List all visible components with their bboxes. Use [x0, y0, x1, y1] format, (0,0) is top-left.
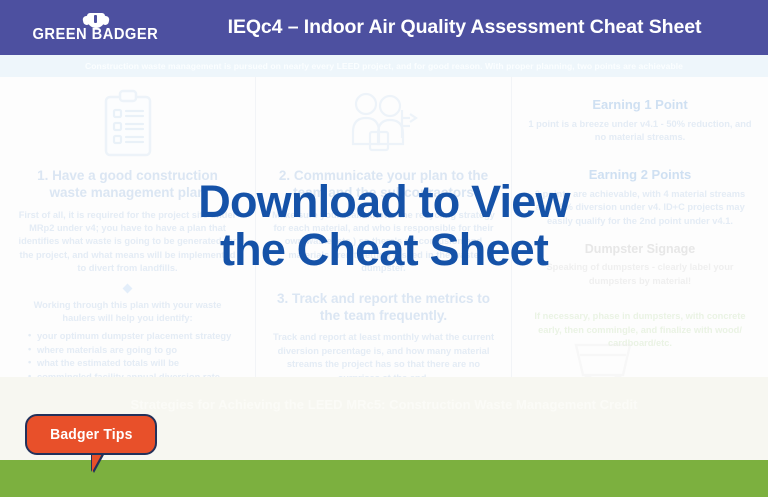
- dumpster-signage-icon: [568, 327, 638, 383]
- content-columns: 1. Have a good construction waste manage…: [0, 77, 768, 377]
- list-item: what the estimated totals will be: [28, 357, 241, 371]
- earning-1-point-heading: Earning 1 Point: [526, 97, 754, 112]
- column-1-body: First of all, it is required for the pro…: [14, 209, 241, 276]
- column-1-title: 1. Have a good construction waste manage…: [14, 167, 241, 202]
- dumpster-signage-note: If necessary, phase in dumpsters, with c…: [526, 310, 754, 350]
- clipboard-checklist-icon: [14, 85, 241, 163]
- dumpster-signage-body: Speaking of dumpsters - clearly label yo…: [526, 261, 754, 288]
- team-communication-icon: [270, 85, 497, 163]
- earning-1-point-body: 1 point is a breeze under v4.1 - 50% red…: [526, 118, 754, 145]
- column-2-body: Make sure your team knows the recycling …: [270, 209, 497, 276]
- footer-caption: Strategies for Achieving the LEED MRc5: …: [0, 397, 768, 412]
- subtitle-band: Construction waste management is pursued…: [0, 55, 768, 77]
- badger-tips-button[interactable]: Badger Tips: [25, 414, 157, 455]
- earning-2-points-heading: Earning 2 Points: [526, 167, 754, 182]
- page-title: IEQc4 – Indoor Air Quality Assessment Ch…: [185, 16, 768, 39]
- column-2-title: 2. Communicate your plan to the team and…: [270, 167, 497, 202]
- column-waste-management-plan: 1. Have a good construction waste manage…: [0, 77, 256, 377]
- cheat-sheet-page: GREEN BADGER IEQc4 – Indoor Air Quality …: [0, 0, 768, 497]
- subtitle-text: Construction waste management is pursued…: [85, 61, 683, 71]
- dumpster-signage-heading: Dumpster Signage: [526, 242, 754, 256]
- column-2-subhead: 3. Track and report the metrics to the t…: [270, 290, 497, 325]
- list-item: where materials are going to go: [28, 344, 241, 358]
- brand-logo[interactable]: GREEN BADGER: [0, 0, 185, 55]
- badger-tips-label: Badger Tips: [50, 426, 132, 443]
- brand-logo-text: GREEN BADGER: [33, 27, 159, 43]
- column-1-subhead: Working through this plan with your wast…: [14, 299, 241, 326]
- list-item: your optimum dumpster placement strategy: [28, 330, 241, 344]
- page-header: GREEN BADGER IEQc4 – Indoor Air Quality …: [0, 0, 768, 55]
- badger-tips-bubble-tail: [92, 452, 103, 472]
- footer-green-band: [0, 460, 768, 497]
- earning-2-points-body: 2 points are achievable, with 4 material…: [526, 188, 754, 228]
- column-communicate-plan: 2. Communicate your plan to the team and…: [256, 77, 512, 377]
- column-earning-points: Earning 1 Point 1 point is a breeze unde…: [512, 77, 768, 377]
- diamond-divider-icon: [123, 283, 133, 293]
